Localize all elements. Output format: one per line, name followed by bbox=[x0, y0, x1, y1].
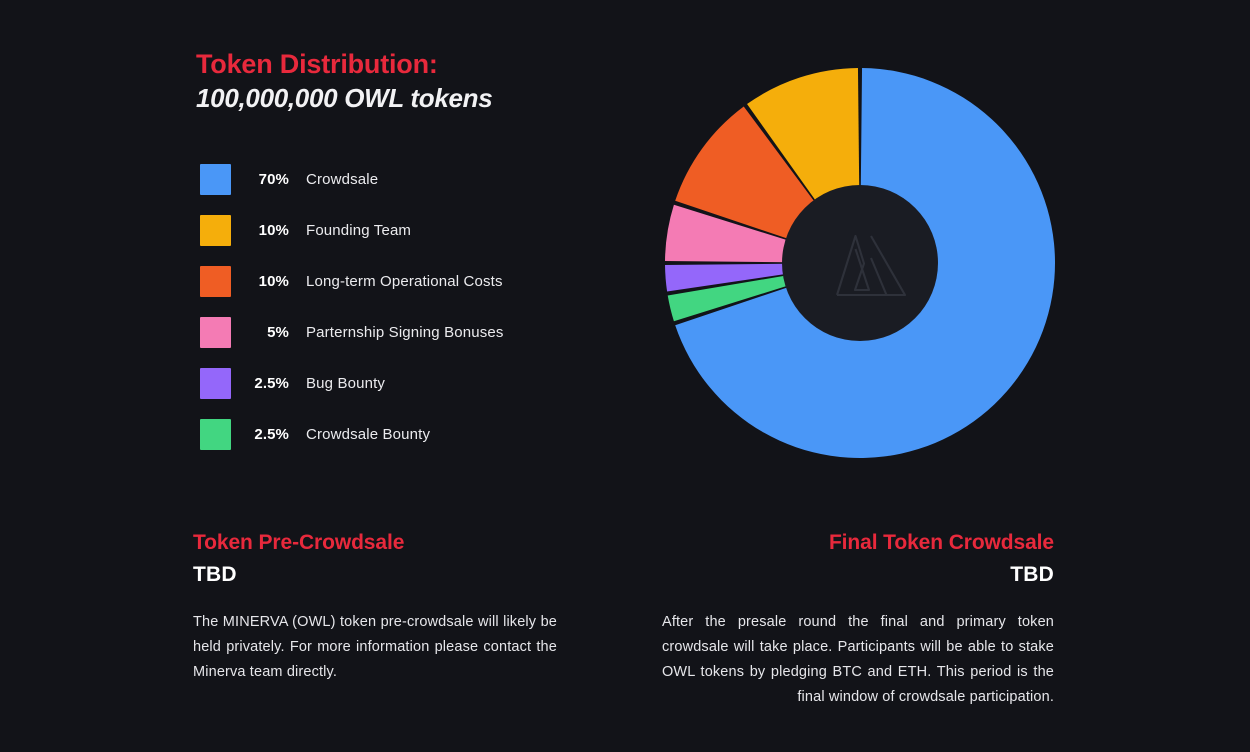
donut-svg bbox=[665, 68, 1055, 458]
legend-label: Crowdsale Bounty bbox=[297, 426, 430, 443]
legend-percent: 70% bbox=[231, 171, 297, 188]
legend-label: Bug Bounty bbox=[297, 375, 385, 392]
status-badge: TBD bbox=[193, 561, 557, 589]
page-title-main: Token Distribution: bbox=[196, 50, 492, 80]
legend-color-swatch bbox=[200, 317, 231, 348]
panel-final-token-crowdsale: Final Token Crowdsale TBD After the pres… bbox=[662, 530, 1054, 710]
chart-legend: 70%Crowdsale10%Founding Team10%Long-term… bbox=[200, 164, 504, 470]
legend-percent: 10% bbox=[231, 222, 297, 239]
panel-body: The MINERVA (OWL) token pre-crowdsale wi… bbox=[193, 610, 557, 685]
legend-color-swatch bbox=[200, 266, 231, 297]
legend-item[interactable]: 5%Parternship Signing Bonuses bbox=[200, 317, 504, 348]
legend-percent: 2.5% bbox=[231, 426, 297, 443]
legend-item[interactable]: 70%Crowdsale bbox=[200, 164, 504, 195]
token-distribution-donut-chart bbox=[665, 68, 1055, 458]
legend-item[interactable]: 2.5%Bug Bounty bbox=[200, 368, 504, 399]
legend-color-swatch bbox=[200, 164, 231, 195]
legend-item[interactable]: 2.5%Crowdsale Bounty bbox=[200, 419, 504, 450]
legend-item[interactable]: 10%Long-term Operational Costs bbox=[200, 266, 504, 297]
legend-label: Founding Team bbox=[297, 222, 411, 239]
legend-percent: 5% bbox=[231, 324, 297, 341]
panel-title: Token Pre-Crowdsale bbox=[193, 530, 557, 555]
legend-color-swatch bbox=[200, 215, 231, 246]
panel-token-pre-crowdsale: Token Pre-Crowdsale TBD The MINERVA (OWL… bbox=[193, 530, 557, 685]
legend-label: Parternship Signing Bonuses bbox=[297, 324, 504, 341]
panel-title: Final Token Crowdsale bbox=[662, 530, 1054, 555]
legend-color-swatch bbox=[200, 368, 231, 399]
page-title-subtitle: 100,000,000 OWL tokens bbox=[196, 82, 492, 115]
token-distribution-slide: Token Distribution: 100,000,000 OWL toke… bbox=[0, 0, 1250, 752]
legend-item[interactable]: 10%Founding Team bbox=[200, 215, 504, 246]
page-title: Token Distribution: 100,000,000 OWL toke… bbox=[196, 50, 492, 114]
legend-color-swatch bbox=[200, 419, 231, 450]
legend-percent: 10% bbox=[231, 273, 297, 290]
legend-percent: 2.5% bbox=[231, 375, 297, 392]
legend-label: Long-term Operational Costs bbox=[297, 273, 503, 290]
panel-body: After the presale round the final and pr… bbox=[662, 610, 1054, 710]
status-badge: TBD bbox=[662, 561, 1054, 589]
legend-label: Crowdsale bbox=[297, 171, 378, 188]
